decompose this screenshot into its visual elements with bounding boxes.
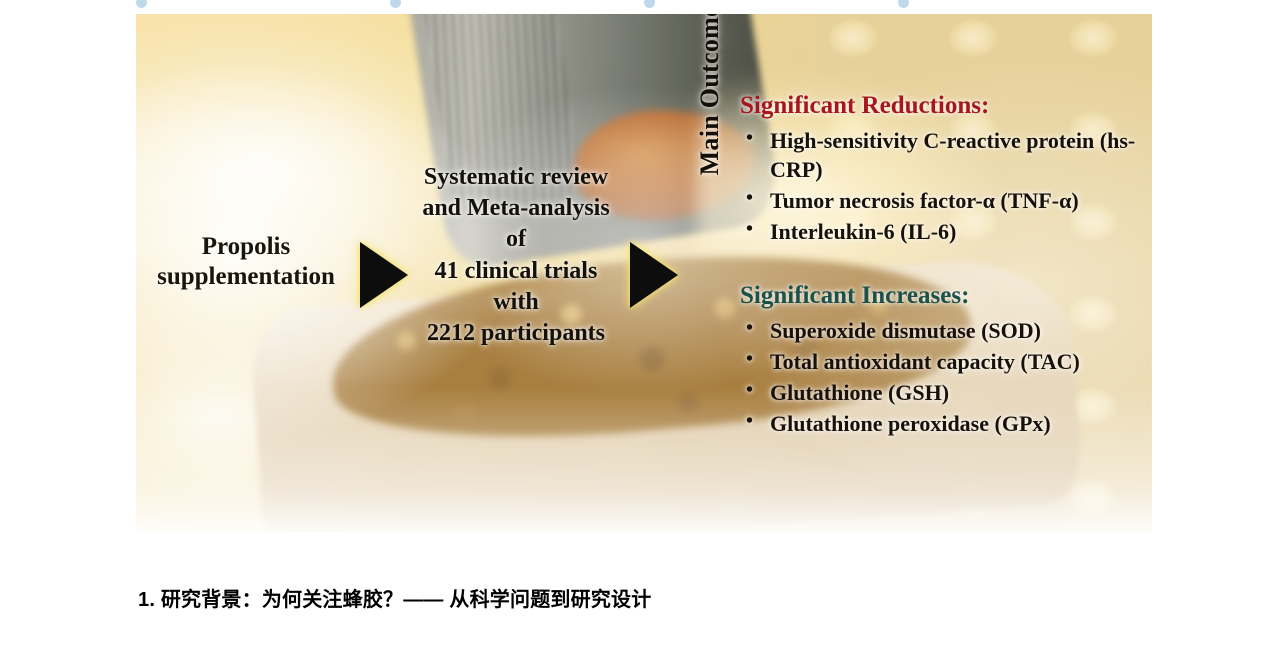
- circle-logo-icon: [136, 0, 147, 8]
- list-item: Tumor necrosis factor-α (TNF-α): [740, 186, 1152, 215]
- list-item: Interleukin-6 (IL-6): [740, 217, 1152, 246]
- list-item: Superoxide dismutase (SOD): [740, 316, 1152, 345]
- top-watermark-strip: [136, 0, 1152, 12]
- flow-stage-propolis: Propolissupplementation: [138, 232, 354, 291]
- section-caption: 1. 研究背景：为何关注蜂胶？—— 从科学问题到研究设计: [138, 586, 651, 614]
- watermark-item: [136, 0, 390, 8]
- significant-reductions-list: High-sensitivity C-reactive protein (hs-…: [740, 126, 1152, 247]
- main-outcomes-axis-label: Main Outcomes: [688, 14, 732, 210]
- significant-reductions-block: Significant Reductions: High-sensitivity…: [740, 92, 1152, 249]
- significant-increases-block: Significant Increases: Superoxide dismut…: [740, 282, 1152, 441]
- significant-increases-list: Superoxide dismutase (SOD) Total antioxi…: [740, 316, 1152, 439]
- significant-increases-heading: Significant Increases:: [740, 282, 1152, 310]
- significant-reductions-heading: Significant Reductions:: [740, 92, 1152, 120]
- flow-stage-study: Systematic reviewand Meta-analysisof41 c…: [392, 162, 640, 349]
- circle-logo-icon: [390, 0, 401, 8]
- list-item: High-sensitivity C-reactive protein (hs-…: [740, 126, 1152, 185]
- watermark-item: [898, 0, 1152, 8]
- flow-arrow-right-icon: [630, 242, 678, 308]
- graphical-abstract-figure: Propolissupplementation Systematic revie…: [136, 14, 1152, 532]
- watermark-item: [644, 0, 898, 8]
- watermark-item: [390, 0, 644, 8]
- circle-logo-icon: [644, 0, 655, 8]
- list-item: Total antioxidant capacity (TAC): [740, 347, 1152, 376]
- list-item: Glutathione peroxidase (GPx): [740, 409, 1152, 438]
- list-item: Glutathione (GSH): [740, 378, 1152, 407]
- circle-logo-icon: [898, 0, 909, 8]
